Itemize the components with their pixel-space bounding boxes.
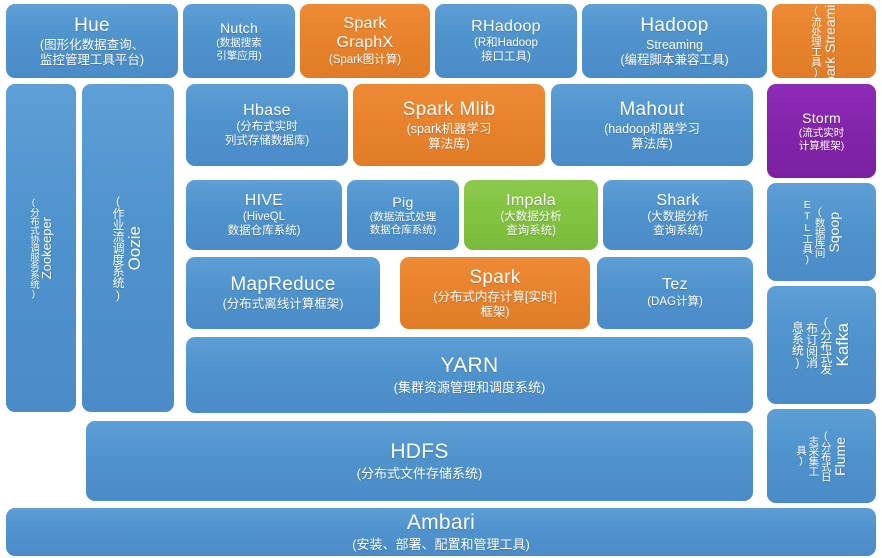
component-title: Storm [802, 110, 841, 127]
component-box-spark-streaming[interactable]: Spark Streaming(流处理工具) [772, 4, 876, 78]
component-description-line: (大数据分析 [500, 211, 561, 225]
component-description: (流处理工具) [810, 5, 822, 78]
component-box-oozie[interactable]: Oozie(作业流调度系统) [82, 84, 174, 412]
component-box-hue[interactable]: Hue(图形化数据查询、监控管理工具平台) [6, 4, 178, 78]
component-description-line: (安装、部署、配置和管理工具) [352, 537, 530, 552]
component-title: Pig [392, 194, 413, 211]
component-description: (分布式日志采集工具) [795, 430, 832, 482]
component-box-pig[interactable]: Pig(数据流式处理数据仓库系统) [347, 180, 459, 250]
component-description-line: (HiveQL [228, 211, 301, 225]
component-description: (Spark图计算) [329, 54, 401, 68]
component-title: Hadoop [640, 15, 708, 37]
component-description: Streaming(编程脚本兼容工具) [620, 38, 728, 68]
component-description: (分布式发布订阅消息系统) [790, 315, 832, 375]
component-description-line: (编程脚本兼容工具) [620, 53, 728, 68]
component-description-line: (DAG计算) [647, 296, 703, 310]
component-title: YARN [441, 354, 499, 379]
component-description-line: (分布式日 [819, 430, 831, 482]
component-box-hive[interactable]: HIVE(HiveQL数据仓库系统) [186, 180, 342, 250]
component-description-line: 接口工具) [474, 51, 538, 65]
component-description-line: (数据搜索 [216, 37, 262, 49]
component-description-line: 引擎应用) [216, 50, 262, 62]
component-box-mahout[interactable]: Mahout(hadoop机器学习算法库) [551, 84, 753, 166]
component-box-impala[interactable]: Impala(大数据分析查询系统) [464, 180, 598, 250]
component-title: Zookeeper [39, 217, 54, 279]
component-description-line: (数据流式处理 [370, 211, 437, 223]
component-title: Nutch [220, 20, 258, 37]
component-box-zookeeper[interactable]: Zookeeper(分布式协调服务系统) [6, 84, 76, 412]
component-description-line: (分布式发 [819, 315, 833, 375]
component-description-line: (分布式协调服务系统) [28, 197, 39, 299]
component-description: (HiveQL数据仓库系统) [228, 211, 301, 238]
component-box-yarn[interactable]: YARN(集群资源管理和调度系统) [186, 337, 753, 413]
component-description-line: (流式实时 [799, 127, 845, 139]
component-description: (安装、部署、配置和管理工具) [352, 537, 530, 552]
component-title: Hue [74, 15, 110, 37]
component-description-line: 查询系统) [647, 225, 708, 239]
component-description-line: (数据库间 [813, 199, 825, 265]
component-description: (流式实时计算框架) [799, 127, 845, 152]
component-description-line: ETL工具) [801, 199, 813, 265]
component-description-line: 列式存储数据库) [225, 135, 309, 149]
component-description-line: (R和Hadoop [474, 37, 538, 51]
component-box-sqoop[interactable]: Sqoop(数据库间ETL工具) [767, 183, 876, 281]
component-box-flume[interactable]: Flume(分布式日志采集工具) [767, 409, 876, 503]
component-description-line: 志采集工 [807, 430, 819, 482]
component-description-line: 数据仓库系统) [228, 225, 301, 239]
component-description-line: (Spark图计算) [329, 54, 401, 68]
component-description-line: (spark机器学习 [407, 122, 492, 137]
component-box-rhadoop[interactable]: RHadoop(R和Hadoop接口工具) [435, 4, 577, 78]
component-description: (分布式离线计算框架) [223, 297, 344, 312]
component-description: (hadoop机器学习算法库) [604, 122, 700, 152]
hadoop-ecosystem-diagram: Hue(图形化数据查询、监控管理工具平台)Nutch(数据搜索引擎应用)Spar… [0, 0, 882, 558]
component-box-kafka[interactable]: Kafka(分布式发布订阅消息系统) [767, 286, 876, 404]
component-box-spark-graphx[interactable]: SparkGraphX(Spark图计算) [300, 4, 430, 78]
component-title: Spark Streaming [822, 4, 839, 78]
component-box-ambari[interactable]: Ambari(安装、部署、配置和管理工具) [6, 508, 876, 556]
component-description-line: 数据仓库系统) [370, 224, 437, 236]
component-title: Spark Mlib [403, 99, 496, 121]
component-description: (大数据分析查询系统) [647, 211, 708, 238]
component-title: MapReduce [230, 274, 335, 296]
component-description: (数据流式处理数据仓库系统) [370, 211, 437, 236]
component-description-line: 具) [795, 430, 807, 482]
component-description: (数据库间ETL工具) [801, 199, 826, 265]
component-description-line: (作业流调度系统) [111, 194, 125, 302]
component-description: (DAG计算) [647, 296, 703, 310]
component-description-line: (分布式内存计算[实时] [433, 290, 557, 305]
component-description-line: (集群资源管理和调度系统) [394, 380, 546, 395]
component-title: Hbase [243, 102, 291, 121]
component-title: Tez [662, 276, 688, 295]
component-description: (图形化数据查询、监控管理工具平台) [40, 38, 144, 68]
component-description-line: 算法库) [407, 137, 492, 152]
component-description-line: 计算框架) [799, 140, 845, 152]
component-description-line: (hadoop机器学习 [604, 122, 700, 137]
component-title: Spark [469, 267, 520, 289]
component-description-line: 监控管理工具平台) [40, 53, 144, 68]
component-title: Flume [832, 437, 849, 476]
component-box-mapreduce[interactable]: MapReduce(分布式离线计算框架) [186, 257, 380, 329]
component-title: RHadoop [471, 18, 541, 37]
component-box-spark[interactable]: Spark(分布式内存计算[实时]框架) [400, 257, 590, 329]
component-description-line: 框架) [433, 305, 557, 320]
component-description-line: (图形化数据查询、 [40, 38, 144, 53]
component-description-line: (流处理工具) [810, 5, 822, 78]
component-description-line: (分布式离线计算框架) [223, 297, 344, 312]
component-description-line: (分布式实时 [225, 121, 309, 135]
component-description-line: Streaming [620, 38, 728, 53]
component-description: (spark机器学习算法库) [407, 122, 492, 152]
component-title: Spark [343, 15, 386, 34]
component-title: Ambari [407, 511, 475, 536]
component-title-line2: GraphX [337, 34, 394, 53]
component-box-hdfs[interactable]: HDFS(分布式文件存储系统) [86, 421, 753, 501]
component-description: (数据搜索引擎应用) [216, 37, 262, 62]
component-box-spark-mlib[interactable]: Spark Mlib(spark机器学习算法库) [353, 84, 545, 166]
component-title: HIVE [245, 192, 284, 211]
component-title: Sqoop [826, 212, 843, 252]
component-description-line: (分布式文件存储系统) [357, 466, 483, 481]
component-title: Impala [506, 192, 556, 211]
component-description: (集群资源管理和调度系统) [394, 380, 546, 395]
component-title: HDFS [390, 440, 448, 465]
component-description: (作业流调度系统) [111, 194, 125, 302]
component-description: (大数据分析查询系统) [500, 211, 561, 238]
component-box-storm[interactable]: Storm(流式实时计算框架) [767, 84, 876, 178]
component-title: Mahout [619, 99, 684, 121]
component-description-line: 算法库) [604, 137, 700, 152]
component-description-line: 查询系统) [500, 225, 561, 239]
component-description-line: 布订阅消 [804, 315, 818, 375]
component-box-hadoop-streaming[interactable]: HadoopStreaming(编程脚本兼容工具) [582, 4, 767, 78]
component-description: (分布式内存计算[实时]框架) [433, 290, 557, 320]
component-box-nutch[interactable]: Nutch(数据搜索引擎应用) [183, 4, 295, 78]
component-description: (分布式实时列式存储数据库) [225, 121, 309, 148]
component-description: (分布式文件存储系统) [357, 466, 483, 481]
component-box-shark[interactable]: Shark(大数据分析查询系统) [603, 180, 753, 250]
component-description: (R和Hadoop接口工具) [474, 37, 538, 64]
component-description-line: (大数据分析 [647, 211, 708, 225]
component-box-tez[interactable]: Tez(DAG计算) [597, 257, 753, 329]
component-title: Shark [656, 192, 699, 211]
component-title: Oozie [125, 226, 145, 270]
component-description: (分布式协调服务系统) [28, 197, 39, 299]
component-box-hbase[interactable]: Hbase(分布式实时列式存储数据库) [186, 84, 348, 166]
component-title: Kafka [833, 323, 853, 366]
component-description-line: 息系统) [790, 315, 804, 375]
